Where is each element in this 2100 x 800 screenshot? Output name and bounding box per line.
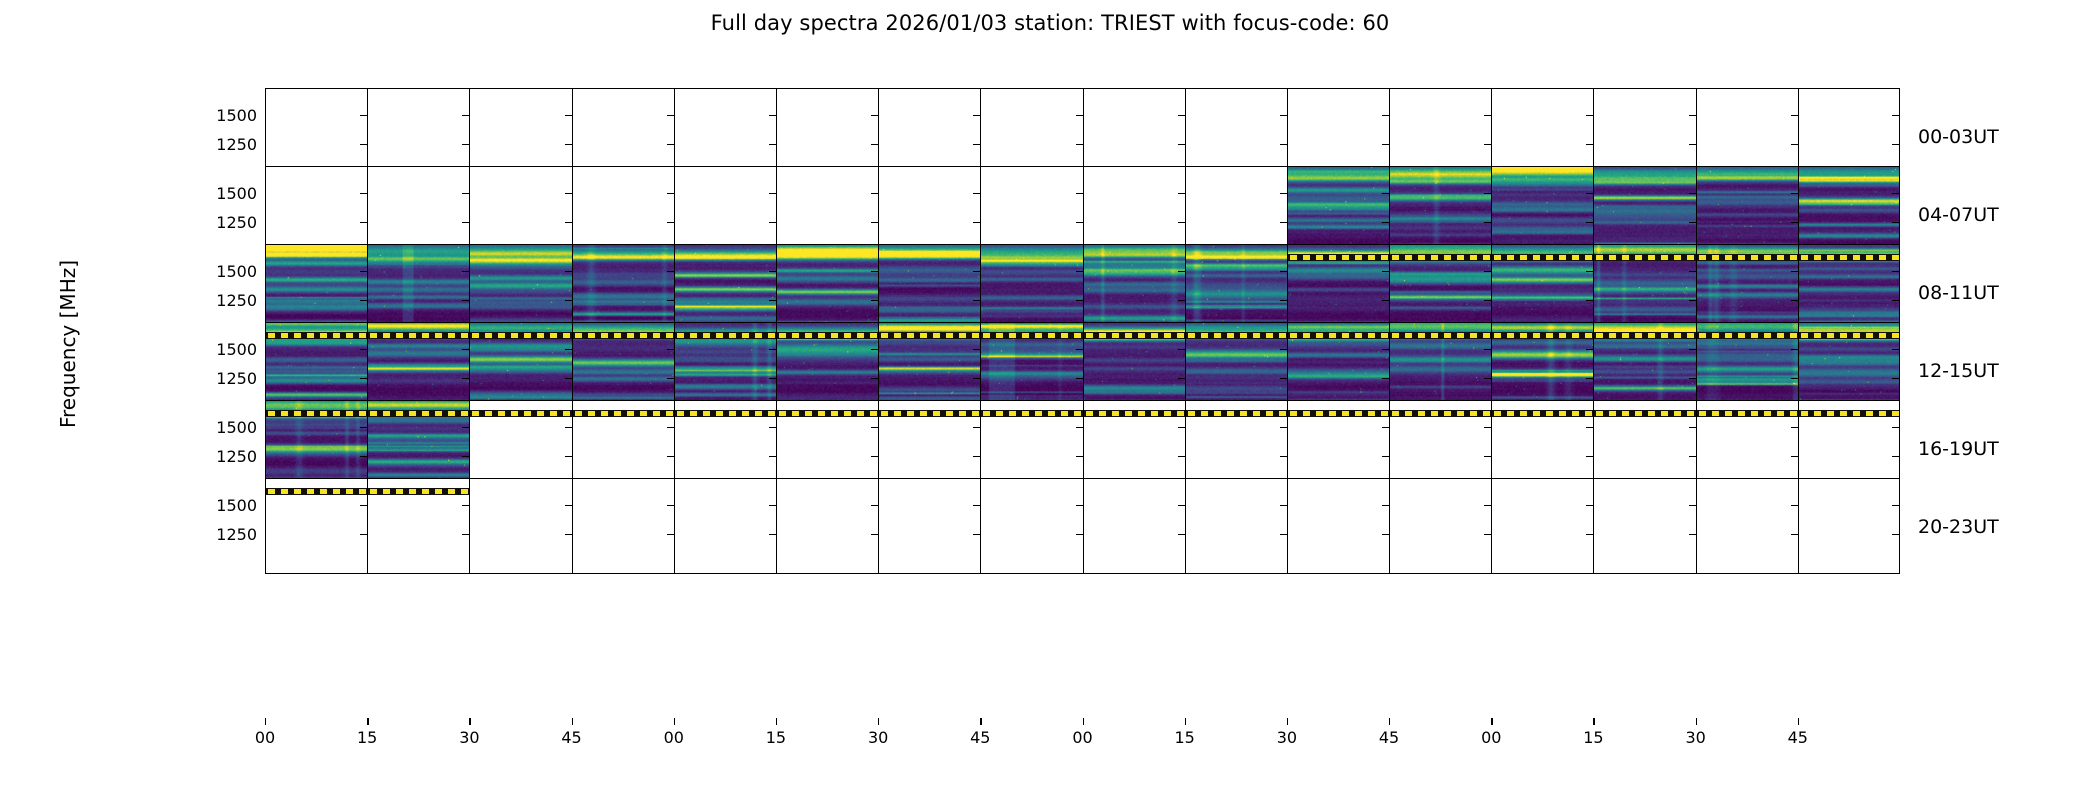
y-tick-mark-upper [1791, 193, 1798, 194]
spectrogram-panel[interactable] [1185, 478, 1287, 574]
y-tick-mark-upper [360, 349, 367, 350]
panel-row-strip [265, 478, 1900, 574]
x-tick-label: 45 [1359, 728, 1419, 747]
y-tick-mark-upper [973, 115, 980, 116]
y-tick-mark-lower [360, 378, 367, 379]
y-tick-mark-upper [1586, 505, 1593, 506]
y-tick-mark-upper [1280, 271, 1287, 272]
y-tick-mark-lower [1892, 222, 1899, 223]
y-tick-mark-upper [667, 427, 674, 428]
y-tick-mark-upper [1484, 193, 1491, 194]
y-tick-mark-lower [769, 534, 776, 535]
row-time-label: 20-23UT [1918, 516, 2100, 538]
y-tick-mark-lower [769, 222, 776, 223]
x-tick-mark [1696, 718, 1697, 725]
y-tick-mark-lower [1791, 300, 1798, 301]
y-tick-label: 1500 [213, 106, 257, 125]
y-tick-mark-lower [1689, 300, 1696, 301]
x-axis: 00153045001530450015304500153045 [265, 718, 1900, 778]
y-tick-mark-lower [360, 534, 367, 535]
x-tick-mark [776, 718, 777, 725]
y-tick-mark-upper [462, 505, 469, 506]
x-tick-label: 30 [439, 728, 499, 747]
y-tick-mark-upper [565, 271, 572, 272]
y-tick-mark-upper [1280, 505, 1287, 506]
y-tick-mark-upper [1076, 349, 1083, 350]
y-tick-mark-upper [1586, 271, 1593, 272]
y-tick-mark-lower [1791, 534, 1798, 535]
y-tick-mark-lower [1689, 456, 1696, 457]
x-tick-mark [1185, 718, 1186, 725]
y-tick-mark-lower [1178, 456, 1185, 457]
panel-grid [265, 88, 1900, 718]
y-tick-mark-lower [871, 222, 878, 223]
spectrogram-panel[interactable] [674, 478, 776, 574]
y-tick-mark-upper [1382, 505, 1389, 506]
y-tick-label: 1500 [213, 262, 257, 281]
y-tick-mark-upper [769, 427, 776, 428]
y-tick-mark-lower [565, 456, 572, 457]
y-tick-mark-lower [973, 534, 980, 535]
y-tick-mark-lower [871, 456, 878, 457]
y-tick-mark-upper [1382, 115, 1389, 116]
data-coverage-marker [368, 410, 469, 417]
x-tick-mark [1083, 718, 1084, 725]
data-coverage-marker [1390, 410, 1491, 417]
spectrogram-panel[interactable] [469, 478, 571, 574]
x-tick-mark [265, 718, 266, 725]
y-tick-mark-upper [1484, 427, 1491, 428]
y-tick-mark-upper [667, 115, 674, 116]
y-tick-mark-upper [1382, 193, 1389, 194]
y-tick-mark-lower [1791, 378, 1798, 379]
data-coverage-marker [1084, 332, 1185, 339]
y-tick-mark-lower [1178, 378, 1185, 379]
data-coverage-marker [1186, 410, 1287, 417]
data-coverage-marker [1390, 254, 1491, 261]
y-tick-mark-lower [1076, 144, 1083, 145]
y-tick-mark-lower [1484, 300, 1491, 301]
x-tick-label: 45 [950, 728, 1010, 747]
data-coverage-marker [1186, 332, 1287, 339]
y-tick-mark-lower [1484, 534, 1491, 535]
y-tick-mark-upper [667, 271, 674, 272]
y-tick-mark-upper [1892, 193, 1899, 194]
spectra-figure: Full day spectra 2026/01/03 station: TRI… [0, 0, 2100, 800]
data-coverage-marker [573, 410, 674, 417]
y-tick-mark-upper [1791, 427, 1798, 428]
y-tick-mark-upper [871, 271, 878, 272]
y-tick-mark-lower [1586, 378, 1593, 379]
page-title: Full day spectra 2026/01/03 station: TRI… [0, 11, 2100, 35]
y-tick-mark-lower [1484, 456, 1491, 457]
y-tick-mark-upper [1280, 193, 1287, 194]
y-tick-mark-lower [462, 456, 469, 457]
x-tick-mark [1287, 718, 1288, 725]
y-tick-mark-upper [360, 193, 367, 194]
y-tick-mark-lower [667, 534, 674, 535]
y-tick-mark-upper [1178, 427, 1185, 428]
y-tick-mark-upper [1178, 193, 1185, 194]
y-tick-mark-upper [1076, 193, 1083, 194]
y-tick-mark-lower [1791, 144, 1798, 145]
y-tick-mark-upper [1689, 349, 1696, 350]
y-tick-mark-upper [1484, 505, 1491, 506]
y-tick-label: 1250 [213, 525, 257, 544]
data-coverage-marker [1594, 410, 1695, 417]
data-coverage-marker [1697, 332, 1798, 339]
x-tick-label: 00 [644, 728, 704, 747]
data-coverage-marker [368, 332, 469, 339]
y-tick-mark-upper [1178, 115, 1185, 116]
y-tick-mark-lower [1178, 222, 1185, 223]
y-tick-mark-lower [1689, 378, 1696, 379]
y-tick-mark-upper [1689, 193, 1696, 194]
spectrogram-panel[interactable] [1389, 478, 1491, 574]
data-coverage-marker [573, 332, 674, 339]
y-tick-mark-lower [1382, 456, 1389, 457]
y-tick-label: 1500 [213, 496, 257, 515]
x-tick-mark [367, 718, 368, 725]
y-tick-mark-upper [1586, 193, 1593, 194]
y-tick-mark-upper [1382, 271, 1389, 272]
y-tick-mark-upper [1076, 115, 1083, 116]
y-tick-mark-upper [1484, 271, 1491, 272]
data-coverage-marker [981, 410, 1082, 417]
data-coverage-marker [1288, 410, 1389, 417]
spectrogram-panel[interactable] [980, 478, 1082, 574]
y-tick-mark-upper [871, 427, 878, 428]
y-tick-label: 1250 [213, 447, 257, 466]
y-tick-mark-upper [1178, 271, 1185, 272]
y-tick-mark-upper [769, 349, 776, 350]
y-tick-mark-upper [1689, 271, 1696, 272]
y-tick-mark-lower [1280, 456, 1287, 457]
y-tick-mark-lower [462, 222, 469, 223]
y-tick-mark-lower [1382, 144, 1389, 145]
y-tick-mark-lower [769, 378, 776, 379]
y-tick-label: 1250 [213, 291, 257, 310]
data-coverage-marker [1799, 410, 1899, 417]
y-tick-mark-upper [769, 271, 776, 272]
y-tick-mark-upper [565, 349, 572, 350]
y-tick-mark-lower [565, 300, 572, 301]
data-coverage-marker [1697, 410, 1798, 417]
y-tick-mark-lower [1586, 456, 1593, 457]
y-tick-mark-upper [1484, 115, 1491, 116]
y-tick-mark-lower [565, 144, 572, 145]
y-tick-mark-upper [1586, 349, 1593, 350]
y-tick-mark-lower [1382, 300, 1389, 301]
y-tick-mark-lower [769, 456, 776, 457]
data-coverage-marker [675, 410, 776, 417]
y-tick-mark-upper [1280, 349, 1287, 350]
y-tick-mark-lower [1892, 144, 1899, 145]
y-tick-mark-lower [1689, 534, 1696, 535]
x-tick-label: 00 [1053, 728, 1113, 747]
y-tick-mark-lower [1280, 378, 1287, 379]
y-tick-label: 1250 [213, 369, 257, 388]
data-coverage-marker [1799, 332, 1899, 339]
y-tick-mark-upper [1076, 427, 1083, 428]
data-coverage-marker [1594, 254, 1695, 261]
y-tick-mark-upper [1892, 271, 1899, 272]
y-tick-mark-upper [1586, 115, 1593, 116]
y-tick-label-group: 15001250 [205, 478, 257, 574]
y-tick-mark-lower [973, 222, 980, 223]
y-tick-mark-lower [462, 534, 469, 535]
y-tick-mark-lower [1892, 300, 1899, 301]
y-tick-mark-upper [462, 115, 469, 116]
spectra-row [265, 478, 1900, 574]
x-tick-label: 30 [1257, 728, 1317, 747]
y-tick-mark-lower [462, 300, 469, 301]
y-tick-mark-lower [1178, 144, 1185, 145]
data-coverage-marker [1084, 410, 1185, 417]
spectrogram-panel[interactable] [776, 478, 878, 574]
y-tick-mark-lower [1076, 534, 1083, 535]
y-tick-mark-upper [1178, 505, 1185, 506]
y-tick-mark-lower [871, 534, 878, 535]
y-tick-mark-upper [1178, 349, 1185, 350]
y-tick-mark-lower [360, 300, 367, 301]
y-tick-mark-upper [1892, 427, 1899, 428]
y-tick-mark-upper [462, 193, 469, 194]
y-tick-mark-upper [360, 427, 367, 428]
y-tick-mark-upper [1892, 349, 1899, 350]
y-tick-mark-upper [1689, 505, 1696, 506]
data-coverage-marker [368, 488, 469, 495]
spectrogram-panel[interactable] [1083, 478, 1185, 574]
y-tick-mark-lower [667, 456, 674, 457]
y-tick-mark-upper [1892, 115, 1899, 116]
x-tick-label: 30 [848, 728, 908, 747]
y-tick-mark-upper [871, 349, 878, 350]
data-coverage-marker [266, 332, 367, 339]
data-coverage-marker [470, 410, 571, 417]
y-tick-mark-lower [1892, 378, 1899, 379]
x-tick-mark [1798, 718, 1799, 725]
spectrogram-panel[interactable] [1798, 478, 1900, 574]
y-tick-mark-lower [565, 534, 572, 535]
y-tick-mark-upper [1791, 115, 1798, 116]
data-coverage-marker [1594, 332, 1695, 339]
y-tick-mark-lower [973, 300, 980, 301]
x-tick-label: 15 [746, 728, 806, 747]
x-tick-mark [1389, 718, 1390, 725]
y-tick-mark-lower [1382, 378, 1389, 379]
y-tick-mark-lower [1689, 144, 1696, 145]
spectrogram-panel[interactable] [1593, 478, 1695, 574]
y-tick-mark-upper [1791, 271, 1798, 272]
x-tick-mark [469, 718, 470, 725]
y-tick-mark-lower [871, 378, 878, 379]
x-tick-mark [878, 718, 879, 725]
y-tick-mark-upper [1280, 115, 1287, 116]
y-tick-mark-lower [360, 144, 367, 145]
y-tick-mark-lower [769, 300, 776, 301]
spectrogram-panel[interactable] [878, 478, 980, 574]
y-tick-mark-lower [667, 144, 674, 145]
y-tick-mark-upper [1689, 115, 1696, 116]
spectrogram-panel[interactable] [1696, 478, 1798, 574]
y-tick-mark-lower [1076, 378, 1083, 379]
y-tick-mark-upper [1382, 427, 1389, 428]
x-tick-mark [572, 718, 573, 725]
y-tick-mark-upper [871, 505, 878, 506]
x-tick-label: 45 [1768, 728, 1828, 747]
y-tick-mark-lower [1892, 456, 1899, 457]
data-coverage-marker [266, 410, 367, 417]
y-tick-mark-lower [462, 144, 469, 145]
y-tick-mark-lower [1586, 534, 1593, 535]
x-tick-mark [674, 718, 675, 725]
y-tick-mark-upper [1586, 427, 1593, 428]
y-tick-mark-upper [565, 427, 572, 428]
y-tick-mark-lower [1076, 456, 1083, 457]
x-tick-label: 15 [337, 728, 397, 747]
y-tick-mark-lower [1892, 534, 1899, 535]
y-tick-mark-lower [1076, 222, 1083, 223]
x-tick-label: 30 [1666, 728, 1726, 747]
spectrogram-panel[interactable] [1491, 478, 1593, 574]
x-tick-label: 00 [235, 728, 295, 747]
y-tick-mark-upper [973, 271, 980, 272]
y-tick-mark-upper [871, 193, 878, 194]
y-tick-mark-lower [1178, 300, 1185, 301]
y-tick-mark-upper [360, 115, 367, 116]
x-tick-mark [980, 718, 981, 725]
y-tick-mark-upper [667, 349, 674, 350]
y-tick-mark-lower [769, 144, 776, 145]
y-tick-mark-lower [1689, 222, 1696, 223]
y-tick-mark-lower [1586, 300, 1593, 301]
y-tick-mark-lower [1791, 456, 1798, 457]
data-coverage-marker [777, 332, 878, 339]
row-time-label: 16-19UT [1918, 438, 2100, 460]
spectrogram-panel[interactable] [572, 478, 674, 574]
data-coverage-marker [1288, 254, 1389, 261]
row-time-label: 00-03UT [1918, 126, 2100, 148]
y-tick-mark-upper [973, 349, 980, 350]
y-tick-mark-upper [1484, 349, 1491, 350]
y-tick-label: 1250 [213, 213, 257, 232]
spectrogram-panel[interactable] [1287, 478, 1389, 574]
y-tick-mark-lower [1178, 534, 1185, 535]
y-tick-mark-upper [667, 505, 674, 506]
y-tick-mark-lower [565, 378, 572, 379]
y-tick-mark-lower [360, 456, 367, 457]
data-coverage-marker [1492, 332, 1593, 339]
data-coverage-marker [1799, 254, 1899, 261]
y-tick-mark-lower [565, 222, 572, 223]
y-tick-mark-upper [1791, 349, 1798, 350]
y-tick-label: 1250 [213, 135, 257, 154]
y-tick-mark-lower [1076, 300, 1083, 301]
y-tick-mark-lower [1382, 222, 1389, 223]
y-tick-mark-lower [871, 144, 878, 145]
y-tick-mark-lower [871, 300, 878, 301]
data-coverage-marker [1390, 332, 1491, 339]
y-tick-mark-upper [360, 271, 367, 272]
y-tick-mark-upper [871, 115, 878, 116]
y-tick-mark-upper [667, 193, 674, 194]
y-tick-label: 1500 [213, 418, 257, 437]
y-tick-mark-upper [565, 115, 572, 116]
y-tick-mark-lower [667, 378, 674, 379]
y-tick-label: 1500 [213, 340, 257, 359]
y-tick-mark-upper [769, 115, 776, 116]
y-tick-mark-lower [1484, 222, 1491, 223]
y-tick-mark-lower [973, 378, 980, 379]
y-tick-mark-upper [1076, 505, 1083, 506]
y-tick-mark-upper [1791, 505, 1798, 506]
y-tick-label: 1500 [213, 184, 257, 203]
y-tick-mark-lower [360, 222, 367, 223]
data-coverage-marker [675, 332, 776, 339]
y-tick-mark-upper [1076, 271, 1083, 272]
data-coverage-marker [879, 332, 980, 339]
x-tick-label: 15 [1155, 728, 1215, 747]
x-tick-label: 15 [1563, 728, 1623, 747]
y-tick-mark-upper [1382, 349, 1389, 350]
data-coverage-marker [1697, 254, 1798, 261]
data-coverage-marker [777, 410, 878, 417]
y-tick-mark-lower [667, 300, 674, 301]
y-tick-mark-lower [1280, 534, 1287, 535]
y-tick-mark-lower [462, 378, 469, 379]
data-coverage-marker [266, 488, 367, 495]
x-tick-mark [1491, 718, 1492, 725]
y-tick-mark-lower [1484, 144, 1491, 145]
y-tick-mark-lower [1484, 378, 1491, 379]
y-tick-mark-upper [1689, 427, 1696, 428]
y-tick-mark-lower [1586, 222, 1593, 223]
y-tick-mark-upper [769, 505, 776, 506]
y-tick-mark-lower [1586, 144, 1593, 145]
y-tick-mark-upper [360, 505, 367, 506]
y-tick-mark-upper [462, 427, 469, 428]
data-coverage-marker [1492, 254, 1593, 261]
data-coverage-marker [1288, 332, 1389, 339]
y-tick-mark-upper [973, 505, 980, 506]
y-tick-mark-lower [667, 222, 674, 223]
data-coverage-marker [1492, 410, 1593, 417]
y-tick-mark-upper [973, 193, 980, 194]
y-tick-mark-upper [462, 349, 469, 350]
data-coverage-marker [470, 332, 571, 339]
x-tick-label: 45 [542, 728, 602, 747]
y-tick-mark-lower [1791, 222, 1798, 223]
data-coverage-marker [879, 410, 980, 417]
y-tick-mark-lower [1280, 222, 1287, 223]
y-axis-label: Frequency [MHz] [56, 214, 80, 474]
y-tick-mark-upper [769, 193, 776, 194]
y-tick-mark-upper [973, 427, 980, 428]
y-tick-mark-upper [565, 193, 572, 194]
y-tick-mark-upper [565, 505, 572, 506]
y-tick-mark-upper [1280, 427, 1287, 428]
y-tick-mark-upper [462, 271, 469, 272]
y-tick-mark-lower [973, 144, 980, 145]
y-tick-mark-lower [973, 456, 980, 457]
y-tick-mark-lower [1382, 534, 1389, 535]
row-time-label: 12-15UT [1918, 360, 2100, 382]
x-tick-mark [1593, 718, 1594, 725]
x-tick-label: 00 [1461, 728, 1521, 747]
y-tick-mark-lower [1280, 144, 1287, 145]
data-coverage-marker [981, 332, 1082, 339]
